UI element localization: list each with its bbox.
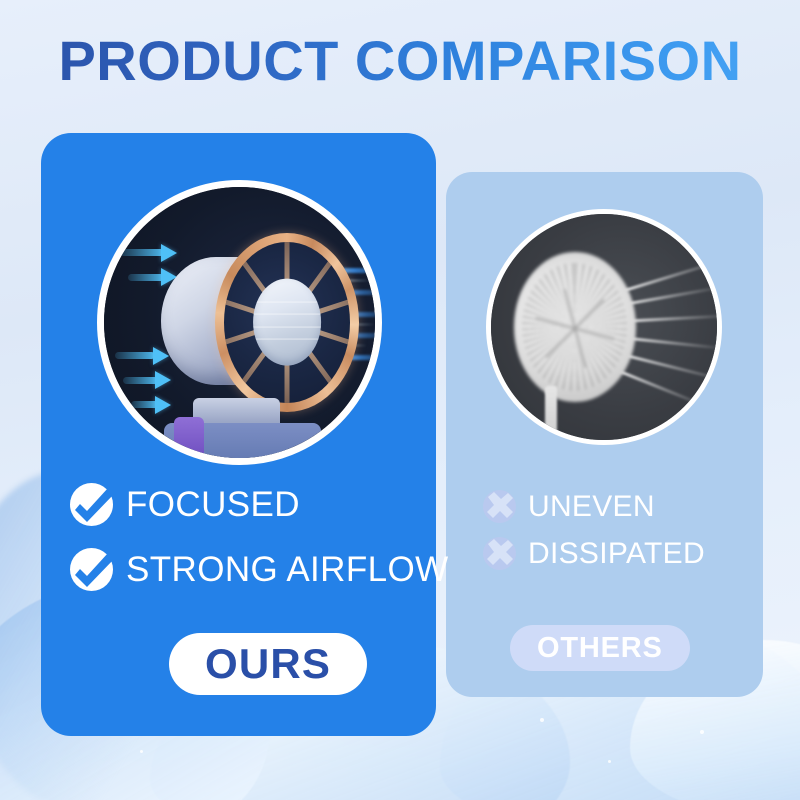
ours-illustration [104,187,375,458]
others-illustration [491,214,717,440]
ours-product-image [97,180,382,465]
others-badge: OTHERS [510,625,690,671]
page-title: PRODUCT COMPARISON [0,33,800,89]
check-circle-icon [70,548,113,591]
fan-accent-purple [174,417,204,458]
others-feature-label: UNEVEN [528,492,655,522]
fan-bezel-ring [215,233,359,412]
ours-feature-list: FOCUSED STRONG AIRFLOW [70,483,430,613]
others-feature-list: UNEVEN DISSIPATED [483,490,763,584]
ours-feature-label: STRONG AIRFLOW [126,552,449,587]
ours-feature-label: FOCUSED [126,487,300,522]
ours-badge: OURS [169,633,367,695]
fan-hub [253,279,321,366]
others-product-image [486,209,722,445]
fan-stem-grey [545,386,556,440]
frost-speck [700,730,704,734]
others-feature-item: UNEVEN [483,490,763,523]
ours-feature-item: STRONG AIRFLOW [70,548,430,591]
check-circle-icon [70,483,113,526]
x-circle-icon [483,490,516,523]
frost-speck [608,760,611,763]
fan-grill [224,242,350,403]
others-feature-label: DISSIPATED [528,539,705,569]
x-circle-icon [483,537,516,570]
ours-feature-item: FOCUSED [70,483,430,526]
frost-speck [140,750,143,753]
ours-card: FOCUSED STRONG AIRFLOW OURS [41,133,436,736]
others-feature-item: DISSIPATED [483,537,763,570]
others-card: UNEVEN DISSIPATED OTHERS [446,172,763,697]
product-comparison-infographic: PRODUCT COMPARISON [0,0,800,800]
fan-head-grey [514,252,636,401]
frost-speck [540,718,544,722]
